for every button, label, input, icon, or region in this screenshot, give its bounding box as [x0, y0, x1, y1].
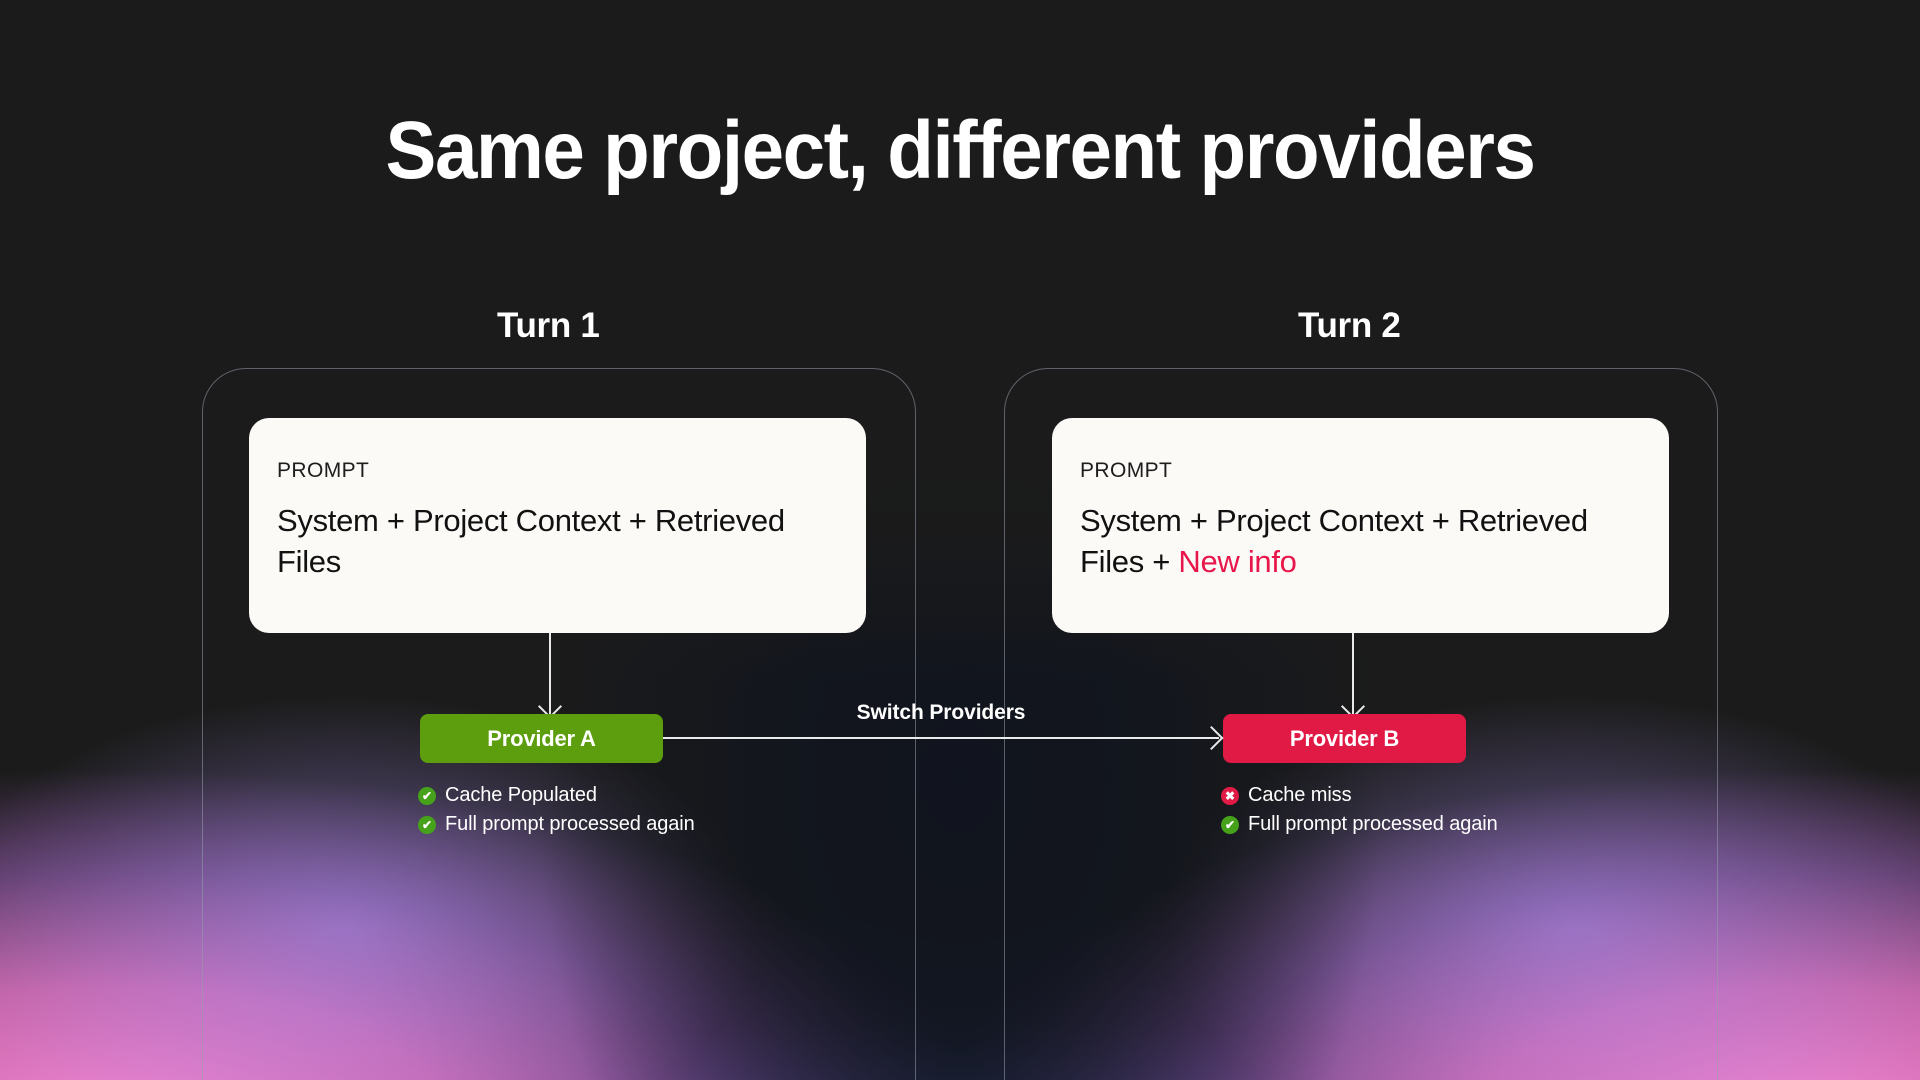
status-text: Cache Populated: [445, 784, 597, 807]
switch-providers-label: Switch Providers: [663, 701, 1219, 725]
check-circle-icon: ✔: [418, 816, 436, 834]
prompt-highlight-new-info: New info: [1178, 544, 1296, 579]
status-text: Full prompt processed again: [445, 813, 695, 836]
provider-b-label: Provider B: [1290, 726, 1399, 752]
status-row: ✔ Cache Populated: [418, 784, 695, 807]
prompt-card-turn-2: PROMPT System + Project Context + Retrie…: [1052, 418, 1669, 633]
prompt-line-1a: System + Project Context + Retrieved: [277, 503, 785, 538]
status-row: ✔ Full prompt processed again: [418, 813, 695, 836]
prompt-line-2a: System + Project Context + Retrieved: [1080, 503, 1588, 538]
check-circle-icon: ✔: [1221, 816, 1239, 834]
prompt-card-turn-1: PROMPT System + Project Context + Retrie…: [249, 418, 866, 633]
provider-a-label: Provider A: [487, 726, 595, 752]
arrow-prompt-to-provider-a: [549, 633, 551, 714]
status-text: Cache miss: [1248, 784, 1351, 807]
prompt-kicker-2: PROMPT: [1080, 460, 1641, 481]
arrow-prompt-to-provider-b: [1352, 633, 1354, 714]
status-list-turn-2: ✖ Cache miss ✔ Full prompt processed aga…: [1221, 784, 1498, 842]
prompt-body-1: System + Project Context + Retrieved Fil…: [277, 501, 838, 583]
check-circle-icon: ✔: [418, 787, 436, 805]
arrow-switch-providers: Switch Providers: [663, 737, 1219, 739]
diagram-canvas: Same project, different providers Turn 1…: [0, 0, 1920, 1080]
provider-a-badge[interactable]: Provider A: [420, 714, 663, 763]
status-list-turn-1: ✔ Cache Populated ✔ Full prompt processe…: [418, 784, 695, 842]
prompt-body-2: System + Project Context + Retrieved Fil…: [1080, 501, 1641, 583]
prompt-line-1b: Files: [277, 544, 341, 579]
status-row: ✔ Full prompt processed again: [1221, 813, 1498, 836]
status-text: Full prompt processed again: [1248, 813, 1498, 836]
turn-label-2: Turn 2: [1298, 306, 1401, 346]
x-circle-icon: ✖: [1221, 787, 1239, 805]
prompt-kicker-1: PROMPT: [277, 460, 838, 481]
prompt-line-2b: Files +: [1080, 544, 1178, 579]
page-title: Same project, different providers: [67, 108, 1853, 194]
status-row: ✖ Cache miss: [1221, 784, 1498, 807]
provider-b-badge[interactable]: Provider B: [1223, 714, 1466, 763]
turn-label-1: Turn 1: [497, 306, 600, 346]
